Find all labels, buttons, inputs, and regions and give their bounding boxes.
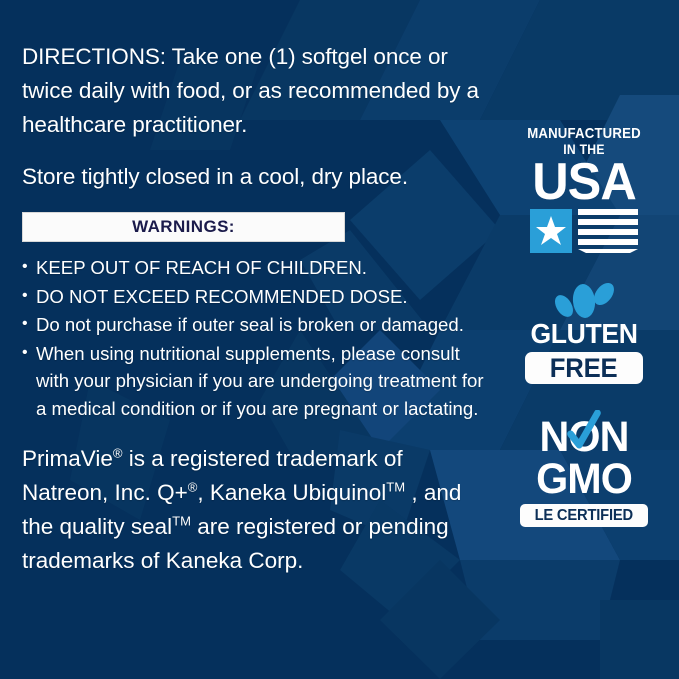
gluten-label: GLUTEN xyxy=(494,319,675,349)
storage-paragraph: Store tightly closed in a cool, dry plac… xyxy=(22,160,484,194)
trademark-part-1: PrimaVie xyxy=(22,446,113,471)
badge-gluten-free: GLUTEN FREE xyxy=(489,281,679,384)
registered-mark-1: ® xyxy=(113,446,123,461)
usa-line-1: MANUFACTURED xyxy=(500,126,667,142)
non-letter-n2: N xyxy=(600,413,629,461)
directions-paragraph: DIRECTIONS: Take one (1) softgel once or… xyxy=(22,40,484,142)
badge-manufactured-in-usa: MANUFACTURED IN THE USA xyxy=(489,126,679,253)
badge-non-gmo: NON GMO LE CERTIFIED xyxy=(489,416,679,527)
trademark-part-3: , Kaneka Ubiquinol xyxy=(197,480,386,505)
trademark-mark-3: TM xyxy=(386,480,405,495)
list-item: Do not purchase if outer seal is broken … xyxy=(22,311,484,339)
trademark-paragraph: PrimaVie® is a registered trademark of N… xyxy=(22,442,484,578)
warnings-list: KEEP OUT OF REACH OF CHILDREN. DO NOT EX… xyxy=(22,254,484,422)
non-label-row: NON xyxy=(493,416,675,458)
list-item: KEEP OUT OF REACH OF CHILDREN. xyxy=(22,254,484,282)
registered-mark-2: ® xyxy=(188,480,198,495)
checkmark-icon xyxy=(565,410,603,456)
list-item: DO NOT EXCEED RECOMMENDED DOSE. xyxy=(22,283,484,311)
certification-badges: MANUFACTURED IN THE USA xyxy=(489,0,679,679)
gmo-label: GMO xyxy=(493,458,675,500)
free-label: FREE xyxy=(550,353,618,384)
usa-line-3: USA xyxy=(492,158,676,206)
le-certified-label: LE CERTIFIED xyxy=(535,507,633,525)
label-text-column: DIRECTIONS: Take one (1) softgel once or… xyxy=(22,40,484,578)
le-certified-box: LE CERTIFIED xyxy=(520,504,648,527)
free-label-box: FREE xyxy=(525,352,643,384)
warnings-heading-label: WARNINGS: xyxy=(132,217,235,237)
trademark-mark-4: TM xyxy=(172,514,191,529)
list-item: When using nutritional supplements, plea… xyxy=(22,340,484,423)
supplement-label-panel: DIRECTIONS: Take one (1) softgel once or… xyxy=(0,0,679,679)
warnings-heading-box: WARNINGS: xyxy=(22,212,345,242)
wheat-leaves-icon xyxy=(489,281,679,319)
non-letter-o: O xyxy=(568,416,599,458)
us-flag-icon xyxy=(530,209,638,253)
